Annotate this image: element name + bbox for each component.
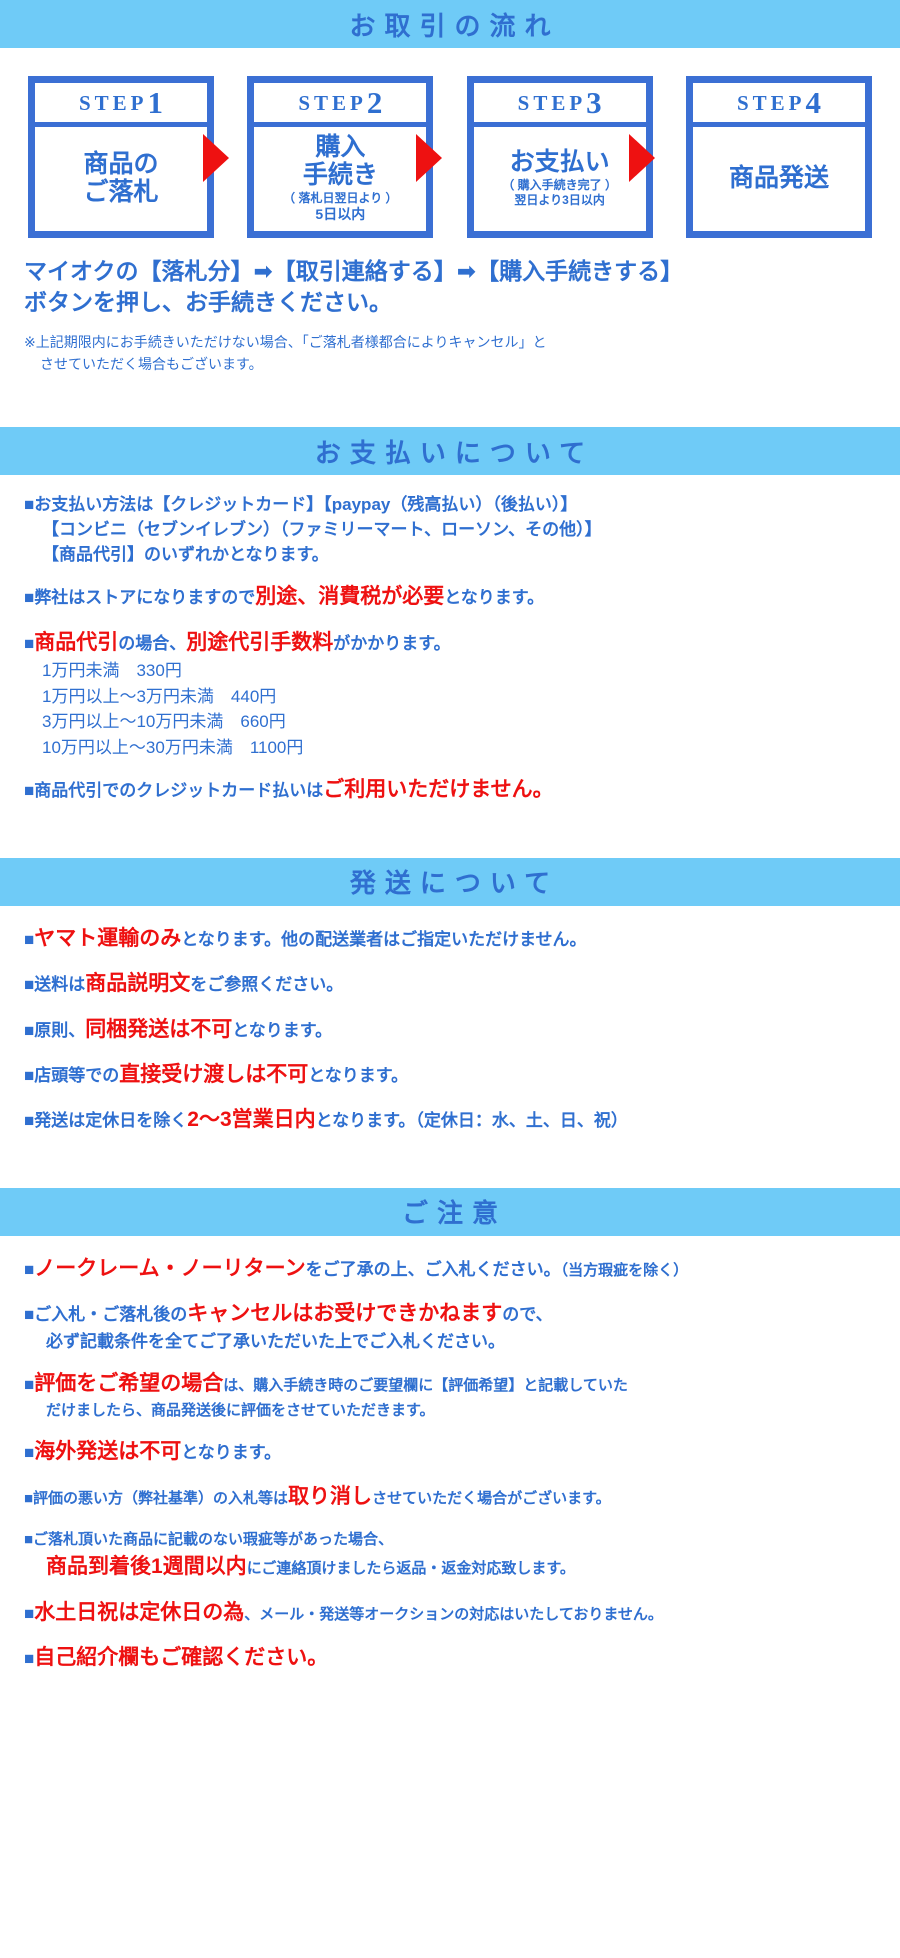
notice-item-6-highlight: 商品到着後1週間以内 <box>46 1555 247 1578</box>
notice-item-7-post: 、メール・発送等オークションの対応はいたしておりません。 <box>244 1606 663 1623</box>
step-3-note: （ 購入手続き完了 ） 翌日より3日以内 <box>502 178 617 208</box>
auction-terms-page: お取引の流れ STEP1 商品のご落札 STEP2 購入手続き （ 落札日翌日よ… <box>0 0 900 1703</box>
section-title-payment: お支払いについて <box>306 433 594 470</box>
notice-item-8-highlight: 自己紹介欄もご確認ください。 <box>34 1646 328 1669</box>
step-card-2: STEP2 購入手続き （ 落札日翌日より ） 5日以内 <box>247 76 433 238</box>
spacer-2 <box>0 806 900 858</box>
step-1-label: STEP <box>79 91 148 115</box>
notice-item-6: ■ご落札頂いた商品に記載のない瑕疵等があった場合、 商品到着後1週間以内にご連絡… <box>24 1527 876 1582</box>
shipping-item-3-post: となります。 <box>232 1021 332 1040</box>
notice-content: ■ノークレーム・ノーリターンをご了承の上、ご入札ください。（当方瑕疵を除く） ■… <box>0 1236 900 1674</box>
notice-item-3: ■評価をご希望の場合は、購入手続き時のご要望欄に【評価希望】と記載していた だけ… <box>24 1369 876 1421</box>
notice-item-8: ■自己紹介欄もご確認ください。 <box>24 1643 876 1673</box>
notice-item-5: ■評価の悪い方（弊社基準）の入札等は取り消しさせていただく場合がございます。 <box>24 1482 876 1512</box>
payment-methods-line-1: ■お支払い方法は【クレジットカード】【paypay（残高払い）（後払い）】 <box>24 495 577 514</box>
shipping-item-5-highlight: 2～3営業日内 <box>187 1108 315 1131</box>
shipping-item-3-pre: ■原則、 <box>24 1021 85 1040</box>
shipping-item-1-pre: ■ <box>24 930 34 949</box>
notice-item-7-pre: ■ <box>24 1604 34 1623</box>
notice-item-7: ■水土日祝は定休日の為、メール・発送等オークションの対応はいたしておりません。 <box>24 1598 876 1628</box>
payment-tax-post: となります。 <box>444 588 544 607</box>
section-banner-flow: お取引の流れ <box>0 0 900 48</box>
step-card-4: STEP4 商品発送 <box>686 76 872 238</box>
step-2-title: 購入手続き <box>303 133 378 189</box>
payment-no-card-highlight: ご利用いただけません。 <box>323 778 553 801</box>
step-3-number: 3 <box>586 85 602 120</box>
notice-item-6-second-line: 商品到着後1週間以内にご連絡頂けましたら返品・返金対応致します。 <box>24 1552 876 1582</box>
section-banner-shipping: 発送について <box>0 858 900 906</box>
payment-cod-mid: の場合、 <box>118 634 186 653</box>
payment-methods-line-3: 【商品代引】のいずれかとなります。 <box>24 543 876 568</box>
payment-cod-post: がかかります。 <box>333 634 450 653</box>
shipping-item-5-post: となります。（定休日：水、土、日、祝） <box>316 1111 628 1130</box>
shipping-item-1-highlight: ヤマト運輸のみ <box>34 927 181 950</box>
arrow-right-icon-1 <box>203 134 229 182</box>
notice-item-3-post: は、購入手続き時のご要望欄に【評価希望】と記載していた <box>223 1377 628 1394</box>
step-4-label: STEP <box>737 91 806 115</box>
step-4-title: 商品発送 <box>729 164 829 192</box>
notice-item-8-pre: ■ <box>24 1649 34 1668</box>
spacer-3 <box>0 1136 900 1188</box>
notice-item-5-post: させていただく場合がございます。 <box>372 1490 611 1507</box>
notice-item-1-tail: （当方瑕疵を除く） <box>561 1262 689 1279</box>
step-4-number: 4 <box>806 85 822 120</box>
payment-cod-fee: ■商品代引の場合、別途代引手数料がかかります。 1万円未満 330円 1万円以上… <box>24 628 876 760</box>
notice-item-2: ■ご入札・ご落札後のキャンセルはお受けできかねますので、 必ず記載条件を全てご了… <box>24 1299 876 1354</box>
payment-tax-pre: ■弊社はストアになりますので <box>24 588 255 607</box>
step-2-note-line1: （ 落札日翌日より ） <box>283 191 397 205</box>
payment-methods-line-2: 【コンビニ（セブンイレブン）（ファミリーマート、ローソン、その他）】 <box>24 518 876 543</box>
step-3-note-line2: 翌日より3日以内 <box>514 193 604 207</box>
shipping-item-1-post: となります。他の配送業者はご指定いただけません。 <box>181 930 586 949</box>
payment-fee-row-2: 1万円以上～3万円未満 440円 <box>24 684 876 710</box>
flow-instruction-line-1: マイオクの【落札分】➡【取引連絡する】➡【購入手続きする】 <box>24 256 876 287</box>
shipping-item-4-post: となります。 <box>308 1066 408 1085</box>
step-2-note-line2: 5日以内 <box>315 206 365 222</box>
shipping-item-4-highlight: 直接受け渡しは不可 <box>119 1063 308 1086</box>
step-3-title: お支払い <box>510 148 610 176</box>
payment-methods: ■お支払い方法は【クレジットカード】【paypay（残高払い）（後払い）】 【コ… <box>24 493 876 567</box>
flow-instruction: マイオクの【落札分】➡【取引連絡する】➡【購入手続きする】 ボタンを押し、お手続… <box>0 238 900 318</box>
shipping-item-2-pre: ■送料は <box>24 975 85 994</box>
step-card-1: STEP1 商品のご落札 <box>28 76 214 238</box>
step-3-note-line1: （ 購入手続き完了 ） <box>502 178 617 192</box>
notice-item-4-highlight: 海外発送は不可 <box>34 1440 181 1463</box>
payment-fee-row-1: 1万円未満 330円 <box>24 658 876 684</box>
step-4-header: STEP4 <box>693 83 865 127</box>
payment-content: ■お支払い方法は【クレジットカード】【paypay（残高払い）（後払い）】 【コ… <box>0 475 900 805</box>
shipping-item-2-highlight: 商品説明文 <box>85 972 190 995</box>
notice-item-4-post: となります。 <box>181 1443 281 1462</box>
section-banner-payment: お支払いについて <box>0 427 900 475</box>
flow-caution-line-1: ※上記期限内にお手続きいただけない場合、「ご落札者様都合によりキャンセル」と <box>24 334 546 350</box>
notice-item-7-highlight: 水土日祝は定休日の為 <box>34 1601 244 1624</box>
step-2-note: （ 落札日翌日より ） 5日以内 <box>283 191 397 224</box>
step-2-number: 2 <box>367 85 383 120</box>
payment-tax-note: ■弊社はストアになりますので別途、消費税が必要となります。 <box>24 582 876 612</box>
notice-item-1-highlight: ノークレーム・ノーリターン <box>34 1257 305 1280</box>
payment-cod-highlight-1: 商品代引 <box>34 631 118 654</box>
arrow-right-icon-3 <box>629 134 655 182</box>
notice-item-6-pre: ■ご落札頂いた商品に記載のない瑕疵等があった場合、 <box>24 1531 393 1548</box>
spacer-1 <box>0 375 900 427</box>
step-4-body: 商品発送 <box>693 127 865 231</box>
shipping-content: ■ヤマト運輸のみとなります。他の配送業者はご指定いただけません。 ■送料は商品説… <box>0 906 900 1136</box>
shipping-item-2-post: をご参照ください。 <box>190 975 343 994</box>
notice-item-1: ■ノークレーム・ノーリターンをご了承の上、ご入札ください。（当方瑕疵を除く） <box>24 1254 876 1284</box>
step-1-body: 商品のご落札 <box>35 127 207 231</box>
step-3-body: お支払い （ 購入手続き完了 ） 翌日より3日以内 <box>474 127 646 231</box>
notice-item-3-cont: だけましたら、商品発送後に評価をさせていただきます。 <box>24 1400 876 1422</box>
section-title-flow: お取引の流れ <box>340 6 559 43</box>
notice-item-3-highlight: 評価をご希望の場合 <box>34 1372 223 1395</box>
step-2-label: STEP <box>298 91 367 115</box>
step-card-3: STEP3 お支払い （ 購入手続き完了 ） 翌日より3日以内 <box>467 76 653 238</box>
notice-item-2-cont: 必ず記載条件を全てご了承いただいた上でご入札ください。 <box>24 1330 876 1355</box>
notice-item-2-post: ので、 <box>502 1305 552 1324</box>
payment-cod-pre: ■ <box>24 634 34 653</box>
shipping-item-5: ■発送は定休日を除く2～3営業日内となります。（定休日：水、土、日、祝） <box>24 1105 876 1135</box>
shipping-item-3-highlight: 同梱発送は不可 <box>85 1018 232 1041</box>
payment-no-card-pre: ■商品代引でのクレジットカード払いは <box>24 781 323 800</box>
flow-caution: ※上記期限内にお手続きいただけない場合、「ご落札者様都合によりキャンセル」と さ… <box>0 318 900 375</box>
notice-item-1-post: をご了承の上、ご入札ください。 <box>306 1260 561 1279</box>
step-1-title: 商品のご落札 <box>83 150 158 206</box>
shipping-item-1: ■ヤマト運輸のみとなります。他の配送業者はご指定いただけません。 <box>24 924 876 954</box>
notice-item-5-pre: ■評価の悪い方（弊社基準）の入札等は <box>24 1490 288 1507</box>
step-flow: STEP1 商品のご落札 STEP2 購入手続き （ 落札日翌日より ） 5日以… <box>0 48 900 238</box>
shipping-item-4-pre: ■店頭等での <box>24 1066 119 1085</box>
notice-item-1-pre: ■ <box>24 1260 34 1279</box>
payment-cod-highlight-2: 別途代引手数料 <box>186 631 333 654</box>
step-3-label: STEP <box>518 91 587 115</box>
shipping-item-2: ■送料は商品説明文をご参照ください。 <box>24 969 876 999</box>
shipping-item-5-pre: ■発送は定休日を除く <box>24 1111 187 1130</box>
notice-item-4-pre: ■ <box>24 1443 34 1462</box>
notice-item-2-pre: ■ご入札・ご落札後の <box>24 1305 187 1324</box>
section-title-shipping: 発送について <box>341 863 559 900</box>
section-title-notice: ご注意 <box>393 1193 507 1230</box>
payment-fee-row-3: 3万円以上～10万円未満 660円 <box>24 709 876 735</box>
spacer-bottom <box>0 1673 900 1703</box>
notice-item-5-highlight: 取り消し <box>288 1485 372 1508</box>
payment-tax-highlight: 別途、消費税が必要 <box>255 585 444 608</box>
shipping-item-3: ■原則、同梱発送は不可となります。 <box>24 1015 876 1045</box>
section-banner-notice: ご注意 <box>0 1188 900 1236</box>
notice-item-2-highlight: キャンセルはお受けできかねます <box>187 1302 502 1325</box>
step-2-body: 購入手続き （ 落札日翌日より ） 5日以内 <box>254 127 426 231</box>
flow-caution-line-2: させていただく場合もございます。 <box>24 354 876 376</box>
payment-no-card-cod: ■商品代引でのクレジットカード払いはご利用いただけません。 <box>24 775 876 805</box>
notice-item-4: ■海外発送は不可となります。 <box>24 1437 876 1467</box>
step-2-header: STEP2 <box>254 83 426 127</box>
payment-fee-row-4: 10万円以上～30万円未満 1100円 <box>24 735 876 761</box>
arrow-right-icon-2 <box>416 134 442 182</box>
flow-instruction-line-2: ボタンを押し、お手続きください。 <box>24 287 876 318</box>
notice-item-3-pre: ■ <box>24 1375 34 1394</box>
step-1-header: STEP1 <box>35 83 207 127</box>
notice-item-6-post: にご連絡頂けましたら返品・返金対応致します。 <box>247 1560 575 1577</box>
shipping-item-4: ■店頭等での直接受け渡しは不可となります。 <box>24 1060 876 1090</box>
step-1-number: 1 <box>148 85 164 120</box>
step-3-header: STEP3 <box>474 83 646 127</box>
